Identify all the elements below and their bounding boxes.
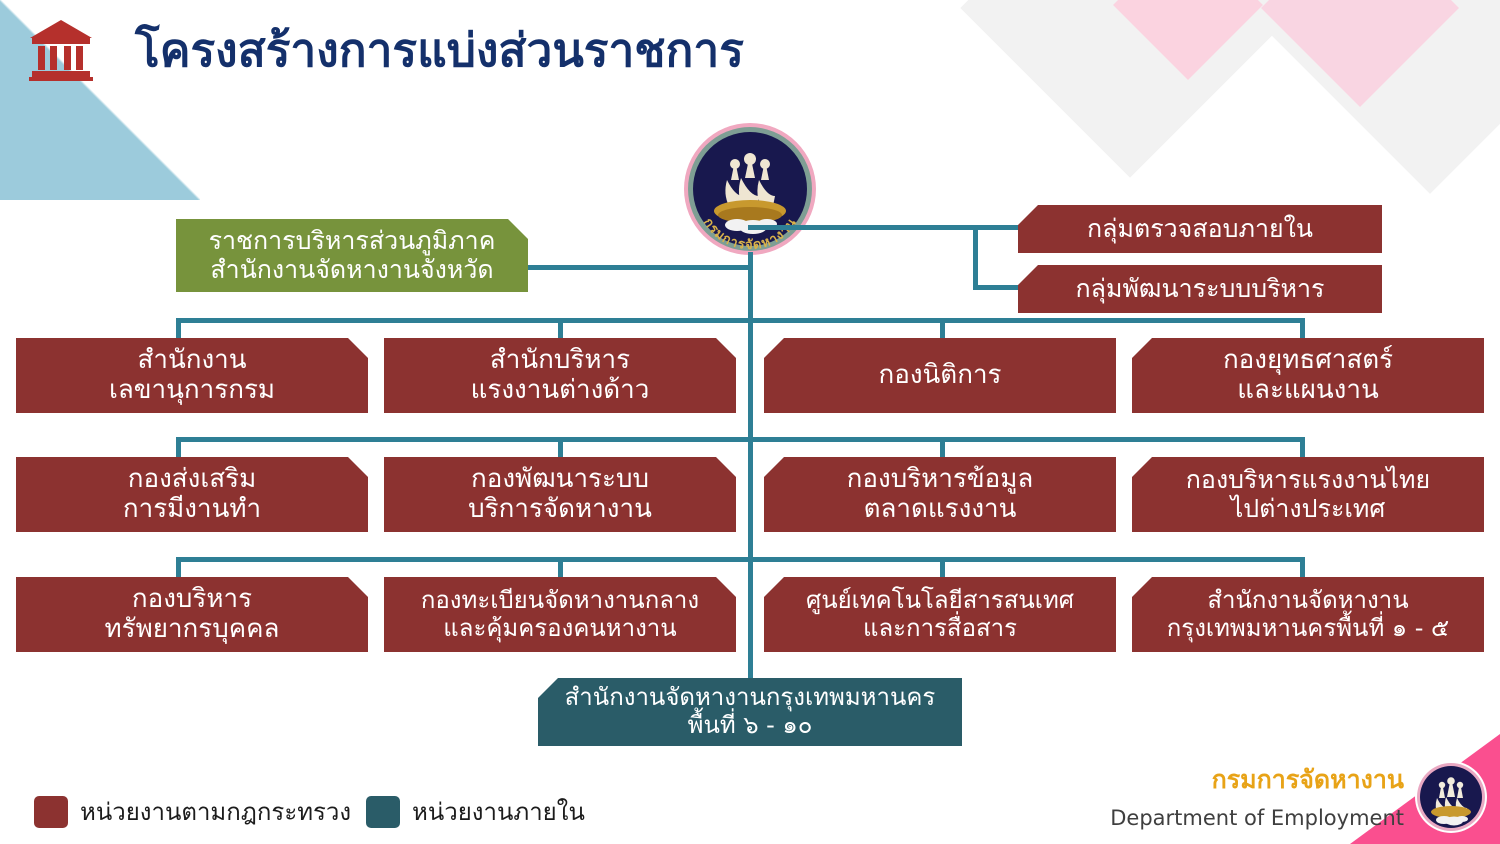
top-right-grey-triangle-1	[960, 0, 1299, 178]
box-r3-c2-line1: กองทะเบียนจัดหางานกลาง	[421, 587, 699, 615]
legend-swatch-teal	[366, 796, 400, 828]
row3-drop-4	[1300, 557, 1305, 579]
legend-item-ministerial: หน่วยงานตามกฎกระทรวง	[34, 792, 351, 831]
box-r1-c3-line1: กองนิติการ	[878, 361, 1001, 391]
box-regional-line2: สำนักงานจัดหางานจังหวัด	[210, 256, 493, 285]
box-r1-c1-line1: สำนักงาน	[137, 346, 246, 376]
box-internal-audit-group[interactable]: กลุ่มตรวจสอบภายใน	[1018, 205, 1382, 253]
box-r2-c2-line2: บริการจัดหางาน	[468, 495, 652, 525]
connector-regional-horizontal	[520, 265, 752, 270]
box-r3-c1-line1: กองบริหาร	[132, 585, 252, 615]
top-right-pink-triangle-1	[1113, 0, 1263, 80]
row3-drop-2	[558, 557, 563, 579]
row3-bus	[176, 557, 1305, 562]
connector-staff-vertical	[973, 225, 978, 290]
legend-item-internal: หน่วยงานภายใน	[366, 792, 585, 831]
box-r3-c4-line1: สำนักงานจัดหางาน	[1207, 587, 1408, 615]
footer-brand-thai: กรมการจัดหางาน	[1212, 760, 1404, 800]
box-internal-audit-label: กลุ่มตรวจสอบภายใน	[1087, 215, 1313, 244]
box-r2-c3-line1: กองบริหารข้อมูล	[847, 465, 1034, 495]
footer-department-seal	[1414, 760, 1488, 834]
row1-drop-2	[558, 318, 563, 340]
box-admin-dev-label: กลุ่มพัฒนาระบบบริหาร	[1076, 275, 1325, 304]
box-r2-c2-line1: กองพัฒนาระบบ	[471, 465, 649, 495]
box-r2-c4-line2: ไปต่างประเทศ	[1231, 495, 1386, 524]
connector-staff-2	[973, 285, 1023, 290]
bank-building-icon	[28, 18, 94, 82]
row2-drop-3	[940, 437, 945, 459]
box-r3-c1-line2: ทรัพยากรบุคคล	[104, 615, 279, 645]
box-r3-c2-line2: และคุ้มครองคนหางาน	[443, 615, 676, 643]
box-r2-c3[interactable]: กองบริหารข้อมูล ตลาดแรงงาน	[764, 457, 1116, 532]
box-r1-c4-line1: กองยุทธศาสตร์	[1223, 346, 1393, 376]
box-r3-c3-line1: ศูนย์เทคโนโลยีสารสนเทศ	[806, 587, 1074, 615]
box-r3-c2[interactable]: กองทะเบียนจัดหางานกลาง และคุ้มครองคนหางา…	[384, 577, 736, 652]
box-r1-c2-line1: สำนักบริหาร	[490, 346, 630, 376]
row2-drop-2	[558, 437, 563, 459]
footer-brand-english: Department of Employment	[1110, 806, 1404, 830]
page-title: โครงสร้างการแบ่งส่วนราชการ	[135, 14, 744, 87]
top-right-grey-triangle-2	[1246, 0, 1500, 194]
box-r1-c2-line2: แรงงานต่างด้าว	[471, 376, 650, 406]
box-r1-c4-line2: และแผนงาน	[1237, 376, 1379, 406]
department-seal: กรมการจัดหางาน	[679, 118, 821, 260]
legend-label-ministerial: หน่วยงานตามกฎกระทรวง	[80, 792, 351, 831]
box-r2-c1[interactable]: กองส่งเสริม การมีงานทำ	[16, 457, 368, 532]
row2-bus	[176, 437, 1305, 442]
box-r1-c3[interactable]: กองนิติการ	[764, 338, 1116, 413]
row1-drop-4	[1300, 318, 1305, 340]
legend-swatch-red	[34, 796, 68, 828]
box-regional-line1: ราชการบริหารส่วนภูมิภาค	[209, 227, 496, 256]
box-r1-c2[interactable]: สำนักบริหาร แรงงานต่างด้าว	[384, 338, 736, 413]
row3-drop-3	[940, 557, 945, 579]
box-r3-c1[interactable]: กองบริหาร ทรัพยากรบุคคล	[16, 577, 368, 652]
box-r3-c3[interactable]: ศูนย์เทคโนโลยีสารสนเทศ และการสื่อสาร	[764, 577, 1116, 652]
box-admin-system-development-group[interactable]: กลุ่มพัฒนาระบบบริหาร	[1018, 265, 1382, 313]
legend-label-internal: หน่วยงานภายใน	[412, 792, 585, 831]
slide-canvas: โครงสร้างการแบ่งส่วนราชการ	[0, 0, 1500, 844]
row3-drop-1	[176, 557, 181, 579]
box-regional-administration[interactable]: ราชการบริหารส่วนภูมิภาค สำนักงานจัดหางาน…	[176, 219, 528, 292]
box-r2-c4[interactable]: กองบริหารแรงงานไทย ไปต่างประเทศ	[1132, 457, 1484, 532]
box-r2-c1-line1: กองส่งเสริม	[128, 465, 256, 495]
spine-vertical-main	[748, 252, 753, 684]
connector-staff-1	[973, 225, 1023, 230]
box-r1-c1[interactable]: สำนักงาน เลขานุการกรม	[16, 338, 368, 413]
row1-bus	[176, 318, 1305, 323]
row1-drop-3	[940, 318, 945, 340]
box-bottom-line2: พื้นที่ ๖ - ๑๐	[688, 712, 813, 740]
box-r2-c2[interactable]: กองพัฒนาระบบ บริการจัดหางาน	[384, 457, 736, 532]
row2-drop-1	[176, 437, 181, 459]
box-r3-c4[interactable]: สำนักงานจัดหางาน กรุงเทพมหานครพื้นที่ ๑ …	[1132, 577, 1484, 652]
connector-staff-horizontal	[748, 225, 978, 230]
box-bangkok-employment-office-6-10[interactable]: สำนักงานจัดหางานกรุงเทพมหานคร พื้นที่ ๖ …	[538, 678, 962, 746]
box-r2-c4-line1: กองบริหารแรงงานไทย	[1186, 466, 1430, 495]
box-r2-c1-line2: การมีงานทำ	[123, 495, 261, 525]
box-r3-c3-line2: และการสื่อสาร	[863, 615, 1017, 643]
box-r1-c1-line2: เลขานุการกรม	[109, 376, 275, 406]
row2-drop-4	[1300, 437, 1305, 459]
box-bottom-line1: สำนักงานจัดหางานกรุงเทพมหานคร	[565, 684, 936, 712]
row1-drop-1	[176, 318, 181, 340]
box-r3-c4-line2: กรุงเทพมหานครพื้นที่ ๑ - ๕	[1167, 615, 1449, 643]
box-r1-c4[interactable]: กองยุทธศาสตร์ และแผนงาน	[1132, 338, 1484, 413]
top-right-pink-triangle-2	[1261, 0, 1459, 107]
box-r2-c3-line2: ตลาดแรงงาน	[864, 495, 1017, 525]
